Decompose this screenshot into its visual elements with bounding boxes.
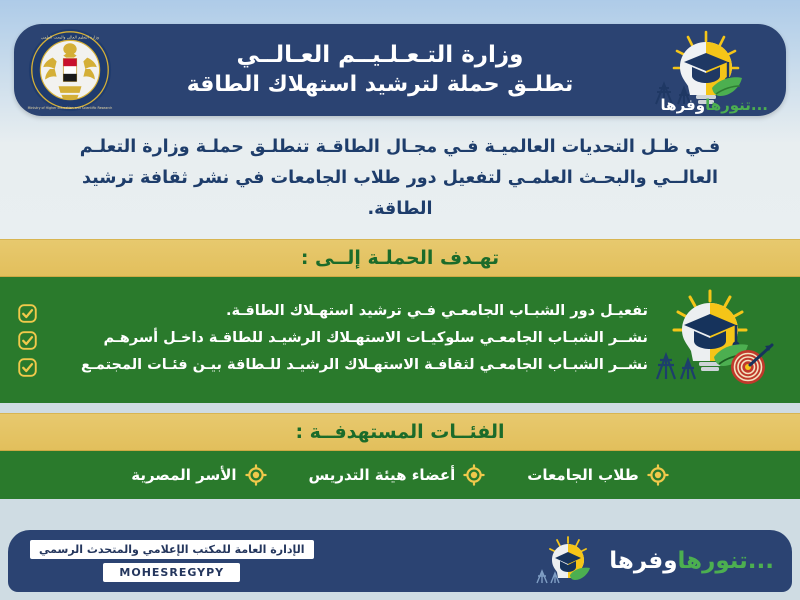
office-label: الإدارة العامة للمكتب الإعلامي والمتحدث … xyxy=(30,540,314,559)
footer-slogan-white: وفرها xyxy=(609,548,677,574)
logo-slogan-green: ...تنورها xyxy=(705,96,768,114)
goals-heading-band: تهـدف الحملـة إلــى : xyxy=(0,239,800,277)
goals-section: تفعيـل دور الشبـاب الجامعـي فـي ترشيد اس… xyxy=(0,277,800,403)
crosshair-target-icon xyxy=(647,464,669,486)
ministry-emblem: وزارة التعليم العالي والبحث العلمي Minis… xyxy=(24,27,116,113)
social-handle: MOHESREGYPY xyxy=(103,563,240,582)
crosshair-target-icon xyxy=(463,464,485,486)
target-label: الأسر المصرية xyxy=(131,466,236,484)
targets-section: طلاب الجامعات أعضاء هيئة التدريس xyxy=(0,451,800,499)
check-badge-icon xyxy=(18,358,37,377)
emblem-text-en: Ministry of Higher Education and Scienti… xyxy=(28,106,113,110)
goal-label: تفعيـل دور الشبـاب الجامعـي فـي ترشيد اس… xyxy=(46,301,648,322)
crosshair-target-icon xyxy=(245,464,267,486)
targets-heading: الفئــات المستهدفــة : xyxy=(295,421,504,443)
infographic-page: ...تنورهاوفرها وزارة التـعـلـيــم العـال… xyxy=(0,0,800,600)
emblem-text-ar: وزارة التعليم العالي والبحث العلمي xyxy=(41,34,99,39)
campaign-logo: ...تنورهاوفرها xyxy=(644,26,772,114)
logo-slogan-white: وفرها xyxy=(661,96,706,114)
footer-office-block: الإدارة العامة للمكتب الإعلامي والمتحدث … xyxy=(30,540,314,582)
target-label: طلاب الجامعات xyxy=(527,466,639,484)
check-badge-icon xyxy=(18,331,37,350)
list-item: الأسر المصرية xyxy=(131,464,266,486)
page-subtitle: تطلـق حملة لترشيد استهلاك الطاقة xyxy=(122,70,638,100)
footer-campaign-block: ...تنورهاوفرها xyxy=(533,535,774,587)
footer-banner: ...تنورهاوفرها xyxy=(8,530,792,592)
lightbulb-logo-icon xyxy=(533,535,603,587)
list-item: نشــر الشبـاب الجامعـي سلوكيـات الاستهـل… xyxy=(18,328,648,350)
footer-slogan: ...تنورهاوفرها xyxy=(609,548,774,574)
page-title: وزارة التـعـلـيــم العـالــي xyxy=(122,40,638,70)
intro-section: فـي ظـل التحديات العالميـة فـي مجـال الط… xyxy=(0,116,800,239)
header-banner: ...تنورهاوفرها وزارة التـعـلـيــم العـال… xyxy=(14,24,786,116)
intro-paragraph: فـي ظـل التحديات العالميـة فـي مجـال الط… xyxy=(70,132,730,225)
layout-spacer xyxy=(0,499,800,530)
goals-illustration xyxy=(652,287,782,391)
list-item: أعضاء هيئة التدريس xyxy=(309,464,486,486)
footer-slogan-green: ...تنورها xyxy=(678,548,774,574)
list-item: طلاب الجامعات xyxy=(527,464,669,486)
check-badge-icon xyxy=(18,304,37,323)
lightbulb-logo-icon: ...تنورهاوفرها xyxy=(644,26,772,114)
goal-label: نشــر الشبـاب الجامعـي سلوكيـات الاستهـل… xyxy=(46,328,648,349)
targets-heading-band: الفئــات المستهدفــة : xyxy=(0,413,800,451)
list-item: نشــر الشبـاب الجامعـي لثقافـة الاستهـلا… xyxy=(18,355,648,377)
goal-label: نشــر الشبـاب الجامعـي لثقافـة الاستهـلا… xyxy=(46,355,648,376)
logo-slogan: ...تنورهاوفرها xyxy=(661,97,768,113)
header-title-block: وزارة التـعـلـيــم العـالــي تطلـق حملة … xyxy=(116,40,644,100)
target-label: أعضاء هيئة التدريس xyxy=(309,466,456,484)
header-wrapper: ...تنورهاوفرها وزارة التـعـلـيــم العـال… xyxy=(0,0,800,116)
footer-wrapper: ...تنورهاوفرها xyxy=(0,530,800,600)
goals-heading: تهـدف الحملـة إلــى : xyxy=(301,247,499,269)
list-item: تفعيـل دور الشبـاب الجامعـي فـي ترشيد اس… xyxy=(18,301,648,323)
goals-list: تفعيـل دور الشبـاب الجامعـي فـي ترشيد اس… xyxy=(18,301,652,377)
